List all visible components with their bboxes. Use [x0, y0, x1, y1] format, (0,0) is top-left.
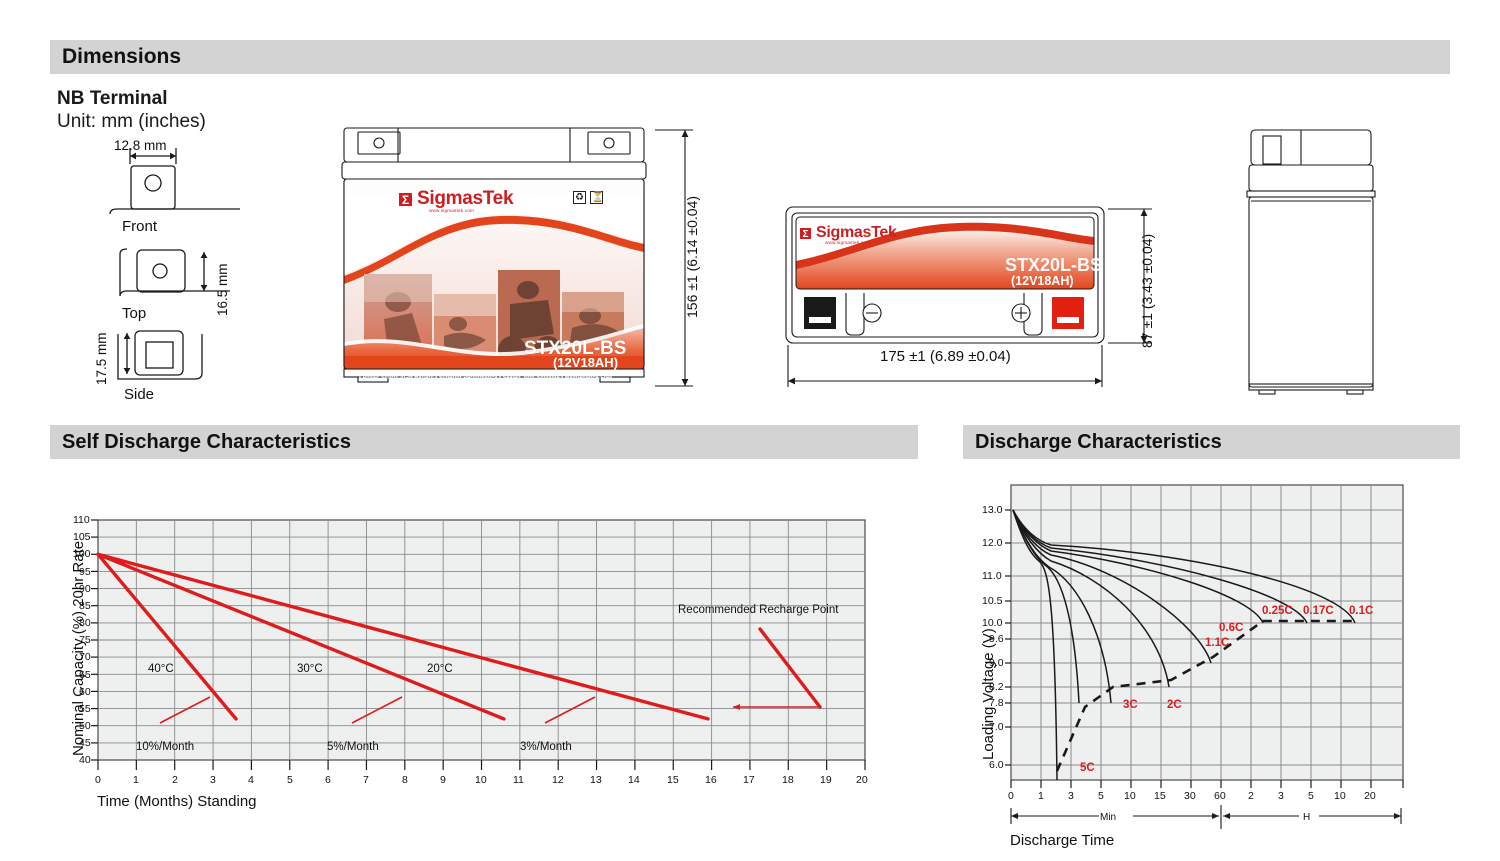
battery-perspective-view	[1237, 126, 1407, 398]
curve-label-0.1c: 0.1C	[1349, 605, 1373, 617]
unit-label: Unit: mm (inches)	[57, 111, 206, 133]
discharge-ylabel: Loading Voltage (V)	[980, 628, 997, 760]
terminal-depth-dim: 16.5 mm	[215, 263, 230, 316]
section-header-self-discharge: Self Discharge Characteristics	[50, 425, 918, 459]
terminal-view-top: Top	[122, 305, 146, 322]
terminal-width-dim: 12.8 mm	[114, 138, 167, 153]
brand-website: www.sigmastek.com	[429, 208, 474, 213]
self-discharge-xlabel: Time (Months) Standing	[97, 793, 257, 810]
annotation-10pct-month: 10%/Month	[136, 741, 194, 753]
terminal-view-side: Side	[124, 386, 154, 403]
curve-label-5c: 5C	[1080, 762, 1095, 774]
curve-label-1.1c: 1.1C	[1205, 637, 1229, 649]
battery-height-label: 156 ±1 (6.14 ±0.04)	[684, 196, 700, 318]
curve-label-2c: 2C	[1167, 699, 1182, 711]
curve-label-0.17c: 0.17C	[1303, 605, 1334, 617]
battery-front-capacity: (12V18AH)	[553, 355, 618, 370]
annotation-30c: 30°C	[297, 663, 323, 675]
annotation-5pct-month: 5%/Month	[327, 741, 379, 753]
battery-front-tagline: • Power Sports AGM Battery • Superior Pe…	[359, 375, 612, 381]
battery-side-model: STX20L-BS	[1005, 255, 1102, 276]
curve-label-0.6c: 0.6C	[1219, 622, 1243, 634]
section-title-dimensions: Dimensions	[62, 45, 181, 69]
crossed-bin-icon: ⏳	[590, 191, 603, 204]
brand-website: www.sigmastek.com	[825, 240, 870, 245]
discharge-xlabel: Discharge Time	[1010, 832, 1114, 849]
battery-length-label: 175 ±1 (6.89 ±0.04)	[880, 348, 1011, 365]
discharge-axis-groups	[1011, 805, 1411, 833]
annotation-recharge-point: Recommended Recharge Point	[678, 604, 838, 616]
terminal-height-dim: 17.5 mm	[94, 332, 109, 385]
brand-name: SigmasTek	[417, 188, 513, 209]
battery-side-capacity: (12V18AH)	[1011, 274, 1074, 288]
nb-terminal-title: NB Terminal	[57, 88, 168, 110]
annotation-20c: 20°C	[427, 663, 453, 675]
section-header-discharge: Discharge Characteristics	[963, 425, 1460, 459]
sigma-icon: Σ	[398, 192, 413, 207]
annotation-40c: 40°C	[148, 663, 174, 675]
section-title-self-discharge: Self Discharge Characteristics	[62, 431, 351, 454]
discharge-group-min: Min	[1100, 812, 1116, 823]
annotation-3pct-month: 3%/Month	[520, 741, 572, 753]
section-title-discharge: Discharge Characteristics	[975, 431, 1222, 454]
sigma-icon: Σ	[799, 227, 812, 240]
brand-name: SigmasTek	[816, 224, 897, 241]
self-discharge-ylabel: Nominal Capacity (%) 20hr Rate	[70, 541, 87, 756]
battery-front-icons: ♻ ⏳	[573, 187, 603, 205]
curve-label-3c: 3C	[1123, 699, 1138, 711]
recycle-icon: ♻	[573, 191, 586, 204]
terminal-view-front: Front	[122, 218, 157, 235]
curve-label-0.25c: 0.25C	[1262, 605, 1293, 617]
terminal-drawings	[100, 136, 310, 401]
discharge-chart	[963, 475, 1423, 825]
section-header-dimensions: Dimensions	[50, 40, 1450, 74]
self-discharge-chart	[50, 475, 930, 825]
discharge-group-hour: H	[1303, 812, 1310, 823]
battery-width-label: 87 ±1 (3.43 ±0.04)	[1139, 234, 1155, 348]
battery-front-logo: ΣSigmasTek	[398, 188, 513, 210]
